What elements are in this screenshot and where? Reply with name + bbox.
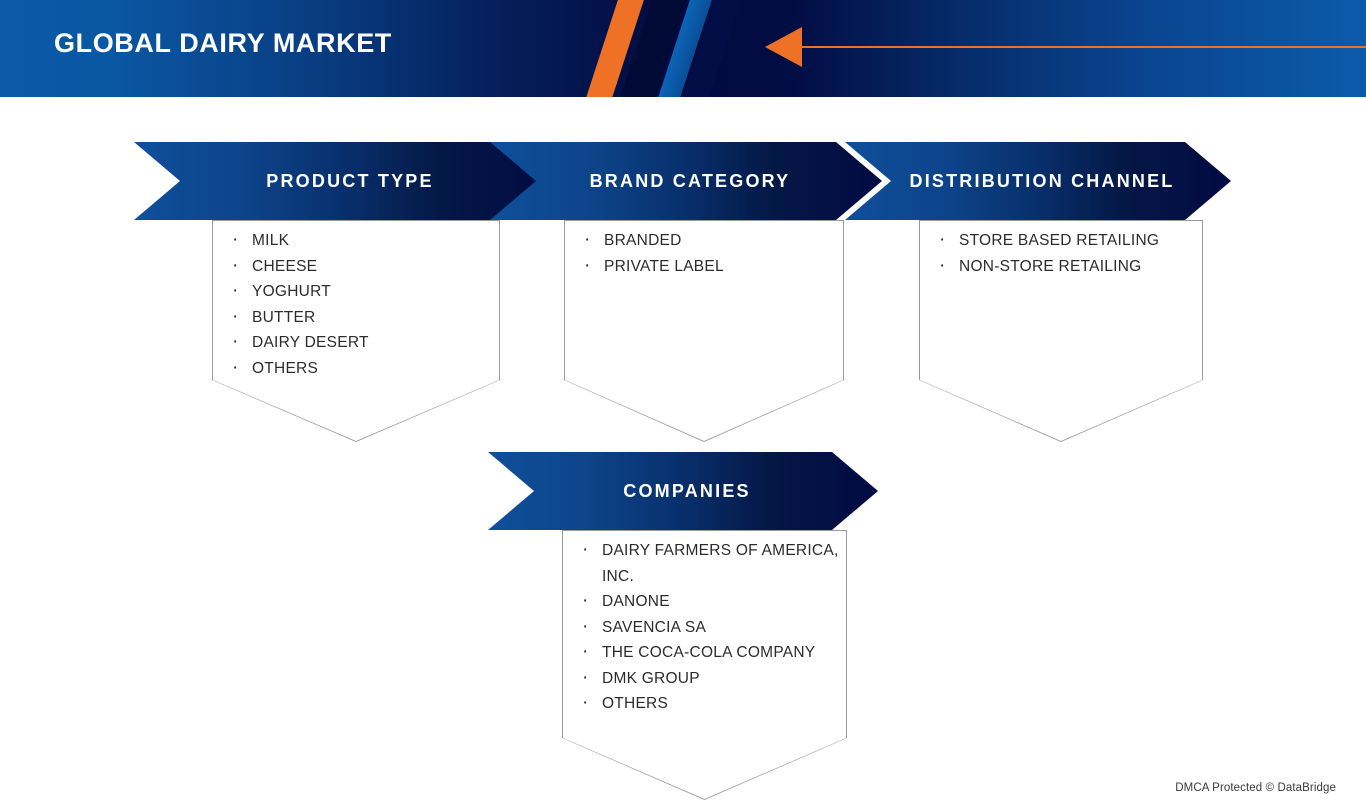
list-item: BUTTER (230, 305, 492, 331)
list-item: PRIVATE LABEL (582, 254, 836, 280)
list-item: MILK (230, 228, 492, 254)
category-banner-label: COMPANIES (595, 481, 770, 502)
panel-product-type: MILK CHEESE YOGHURT BUTTER DAIRY DESERT … (212, 220, 500, 442)
list-item: STORE BASED RETAILING (937, 228, 1195, 254)
category-group-companies: DAIRY FARMERS OF AMERICA, INC. DANONE SA… (488, 452, 489, 453)
category-group-product-type: MILK CHEESE YOGHURT BUTTER DAIRY DESERT … (134, 142, 135, 143)
item-list: MILK CHEESE YOGHURT BUTTER DAIRY DESERT … (230, 228, 492, 381)
left-arrow-icon (765, 27, 802, 67)
list-item: DANONE (580, 589, 839, 615)
item-list: BRANDED PRIVATE LABEL (582, 228, 836, 279)
category-banner-brand-category[interactable]: BRAND CATEGORY (490, 142, 882, 220)
category-group-distribution-channel: STORE BASED RETAILING NON-STORE RETAILIN… (845, 142, 846, 143)
panel-companies: DAIRY FARMERS OF AMERICA, INC. DANONE SA… (562, 530, 847, 800)
category-banner-label: BRAND CATEGORY (562, 171, 811, 192)
list-item: NON-STORE RETAILING (937, 254, 1195, 280)
category-group-brand-category: BRANDED PRIVATE LABEL BRAND CATEGORY (490, 142, 491, 143)
category-banner-label: PRODUCT TYPE (238, 171, 453, 192)
list-item: CHEESE (230, 254, 492, 280)
list-item: OTHERS (230, 356, 492, 382)
panel-distribution-channel: STORE BASED RETAILING NON-STORE RETAILIN… (919, 220, 1203, 442)
item-list: DAIRY FARMERS OF AMERICA, INC. DANONE SA… (580, 538, 839, 717)
list-item: DAIRY FARMERS OF AMERICA, INC. (580, 538, 839, 589)
list-item: THE COCA-COLA COMPANY (580, 640, 839, 666)
list-item: SAVENCIA SA (580, 615, 839, 641)
list-item: BRANDED (582, 228, 836, 254)
category-banner-distribution-channel[interactable]: DISTRIBUTION CHANNEL (845, 142, 1231, 220)
page-title: GLOBAL DAIRY MARKET (54, 28, 392, 59)
list-item: DMK GROUP (580, 666, 839, 692)
list-item: YOGHURT (230, 279, 492, 305)
header-arrow-line (800, 46, 1366, 48)
category-banner-product-type[interactable]: PRODUCT TYPE (134, 142, 558, 220)
category-banner-companies[interactable]: COMPANIES (488, 452, 878, 530)
list-item: DAIRY DESERT (230, 330, 492, 356)
panel-brand-category: BRANDED PRIVATE LABEL (564, 220, 844, 442)
item-list: STORE BASED RETAILING NON-STORE RETAILIN… (937, 228, 1195, 279)
watermark-text: DMCA Protected © DataBridge (1175, 782, 1336, 794)
category-banner-label: DISTRIBUTION CHANNEL (882, 171, 1195, 192)
list-item: OTHERS (580, 691, 839, 717)
header-banner: GLOBAL DAIRY MARKET (0, 0, 1366, 97)
